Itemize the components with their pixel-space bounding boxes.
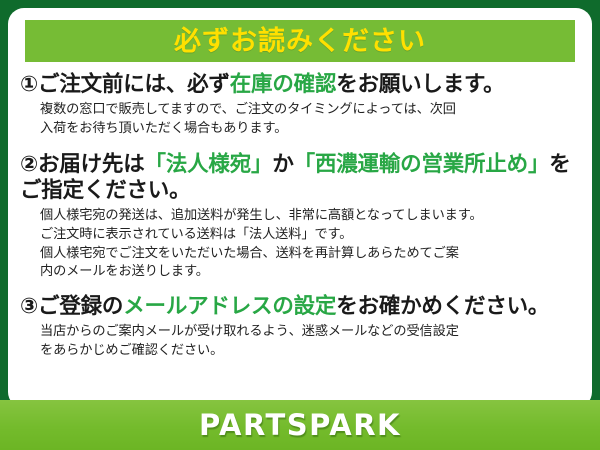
item-2-body-line-2: ご注文時に表示されている送料は「法人送料」です。 [40, 226, 580, 245]
item-3-body-line-2: をあらかじめご確認ください。 [40, 342, 580, 361]
item-2-heading-highlight: 「法人様宛」 [145, 152, 273, 177]
notice-header-band: 必ずお読みください [25, 20, 575, 62]
item-3-body-line-1: 当店からのご案内メールが受け取れるよう、迷惑メールなどの受信設定 [40, 323, 580, 342]
item-1-body-line-2: 入荷をお待ち頂いただく場合もあります。 [40, 120, 580, 139]
item-1-heading-post: をお願いします。 [336, 72, 504, 97]
notice-title: 必ずお読みください [174, 28, 426, 55]
notice-item-1: ①ご注文前には、必ず在庫の確認をお願いします。 複数の窓口で販売してますので、ご… [20, 72, 580, 139]
notice-content: ①ご注文前には、必ず在庫の確認をお願いします。 複数の窓口で販売してますので、ご… [20, 70, 580, 365]
item-marker-2: ② [20, 152, 38, 177]
item-1-heading-pre: ご注文前には、必ず [38, 72, 230, 97]
item-3-heading-pre: ご登録の [38, 294, 123, 319]
notice-item-3: ③ご登録のメールアドレスの設定をお確かめください。 当店からのご案内メールが受け… [20, 294, 580, 361]
notice-panel: 必ずお読みください ①ご注文前には、必ず在庫の確認をお願いします。 複数の窓口で… [8, 8, 592, 408]
notice-item-1-heading: ①ご注文前には、必ず在庫の確認をお願いします。 [20, 72, 580, 98]
item-2-body-line-1: 個人様宅宛の発送は、追加送料が発生し、非常に高額となってしまいます。 [40, 207, 580, 226]
notice-item-1-body: 複数の窓口で販売してますので、ご注文のタイミングによっては、次回 入荷をお待ち頂… [40, 101, 580, 138]
item-marker-3: ③ [20, 294, 38, 319]
item-marker-1: ① [20, 72, 38, 97]
notice-item-3-heading: ③ご登録のメールアドレスの設定をお確かめください。 [20, 294, 580, 320]
item-3-heading-post: をお確かめください。 [336, 294, 549, 319]
notice-footer: PARTSPARK [0, 400, 600, 450]
item-3-heading-highlight: メールアドレスの設定 [123, 294, 336, 319]
notice-item-2-heading: ②お届け先は「法人様宛」か「西濃運輸の営業所止め」をご指定ください。 [20, 152, 580, 204]
notice-item-3-body: 当店からのご案内メールが受け取れるよう、迷惑メールなどの受信設定 をあらかじめご… [40, 323, 580, 360]
item-2-body-line-4: 内のメールをお送りします。 [40, 263, 580, 282]
item-2-heading-highlight-2: 「西濃運輸の営業所止め」 [294, 152, 550, 177]
notice-item-2-body: 個人様宅宛の発送は、追加送料が発生し、非常に高額となってしまいます。 ご注文時に… [40, 207, 580, 282]
notice-item-2: ②お届け先は「法人様宛」か「西濃運輸の営業所止め」をご指定ください。 個人様宅宛… [20, 152, 580, 282]
item-1-body-line-1: 複数の窓口で販売してますので、ご注文のタイミングによっては、次回 [40, 101, 580, 120]
item-2-heading-mid: か [272, 152, 293, 177]
item-2-heading-pre: お届け先は [38, 152, 145, 177]
brand-logo-text: PARTSPARK [199, 408, 401, 442]
item-1-heading-highlight: 在庫の確認 [230, 72, 337, 97]
notice-card: 必ずお読みください ①ご注文前には、必ず在庫の確認をお願いします。 複数の窓口で… [0, 0, 600, 450]
item-2-body-line-3: 個人様宅宛でご注文をいただいた場合、送料を再計算しあらためてご案 [40, 245, 580, 264]
